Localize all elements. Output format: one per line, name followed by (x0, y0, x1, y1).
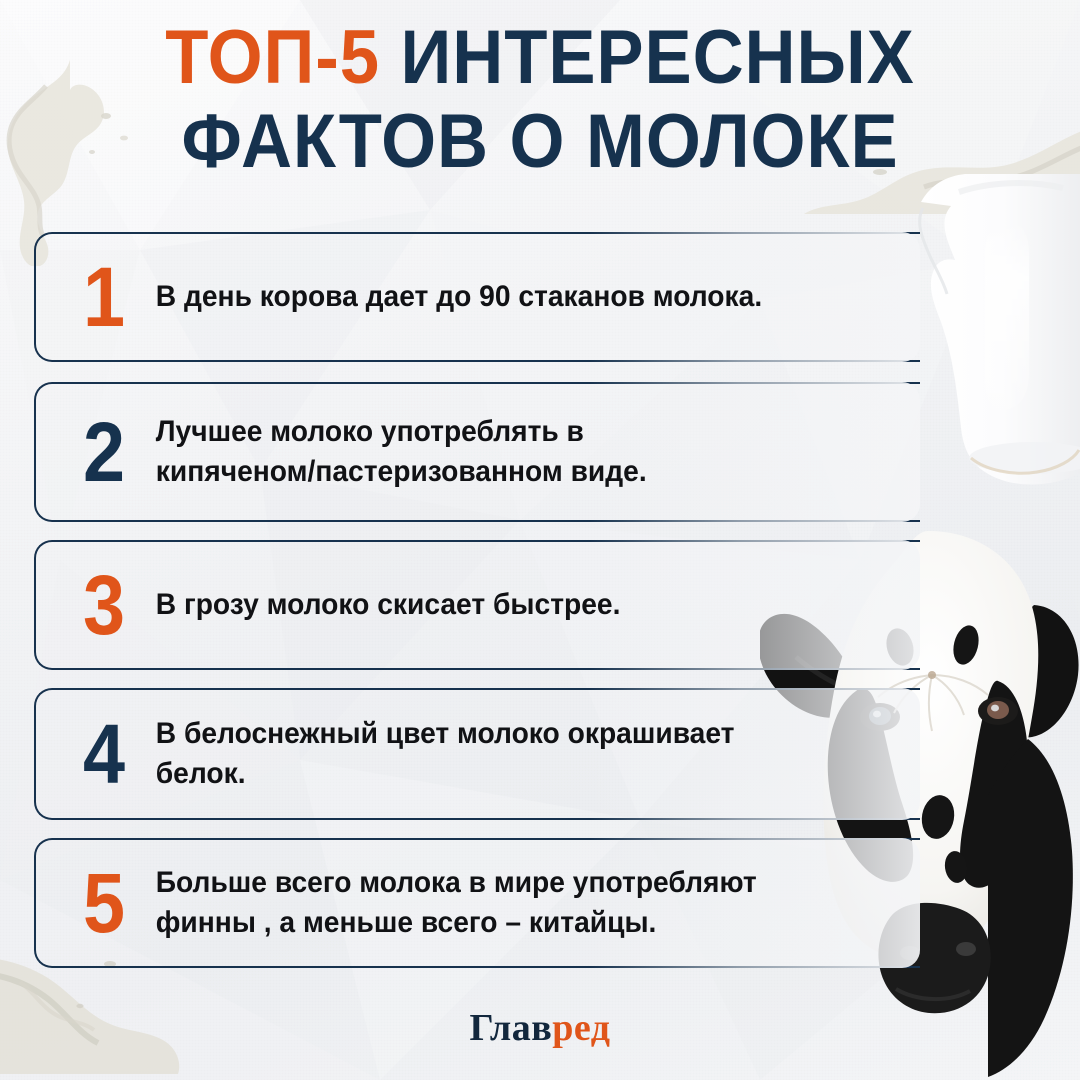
fact-card-5: 5 Больше всего молока в мире употребляют… (34, 838, 920, 968)
brand-logo-part-2: ред (552, 1007, 610, 1049)
fact-text-4: В белоснежный цвет молоко окрашивает бел… (152, 714, 874, 794)
fact-number-5: 5 (61, 861, 147, 945)
fact-number-2: 2 (61, 410, 147, 494)
fact-text-1: В день корова дает до 90 стаканов молока… (152, 277, 874, 317)
infographic-poster: ТОП-5 ИНТЕРЕСНЫХ ФАКТОВ О МОЛОКЕ 1 В ден… (0, 0, 1080, 1080)
page-title: ТОП-5 ИНТЕРЕСНЫХ ФАКТОВ О МОЛОКЕ (0, 16, 1080, 184)
brand-logo: Главред (0, 1006, 1080, 1050)
brand-logo-part-1: Глав (470, 1007, 553, 1049)
fact-text-3: В грозу молоко скисает быстрее. (152, 585, 874, 625)
title-line-1-rest: ИНТЕРЕСНЫХ (401, 15, 915, 100)
fact-card-4: 4 В белоснежный цвет молоко окрашивает б… (34, 688, 920, 820)
fact-text-2: Лучшее молоко употреблять в кипяченом/па… (152, 412, 874, 492)
fact-card-2: 2 Лучшее молоко употреблять в кипяченом/… (34, 382, 920, 522)
title-accent: ТОП-5 (165, 15, 380, 100)
title-line-1: ТОП-5 ИНТЕРЕСНЫХ (38, 16, 1042, 100)
title-line-2: ФАКТОВ О МОЛОКЕ (38, 100, 1042, 184)
fact-text-5: Больше всего молока в мире употребляют ф… (152, 863, 874, 943)
fact-number-4: 4 (61, 712, 147, 796)
fact-card-3: 3 В грозу молоко скисает быстрее. (34, 540, 920, 670)
fact-number-1: 1 (61, 255, 147, 339)
fact-number-3: 3 (61, 563, 147, 647)
fact-card-1: 1 В день корова дает до 90 стаканов моло… (34, 232, 920, 362)
